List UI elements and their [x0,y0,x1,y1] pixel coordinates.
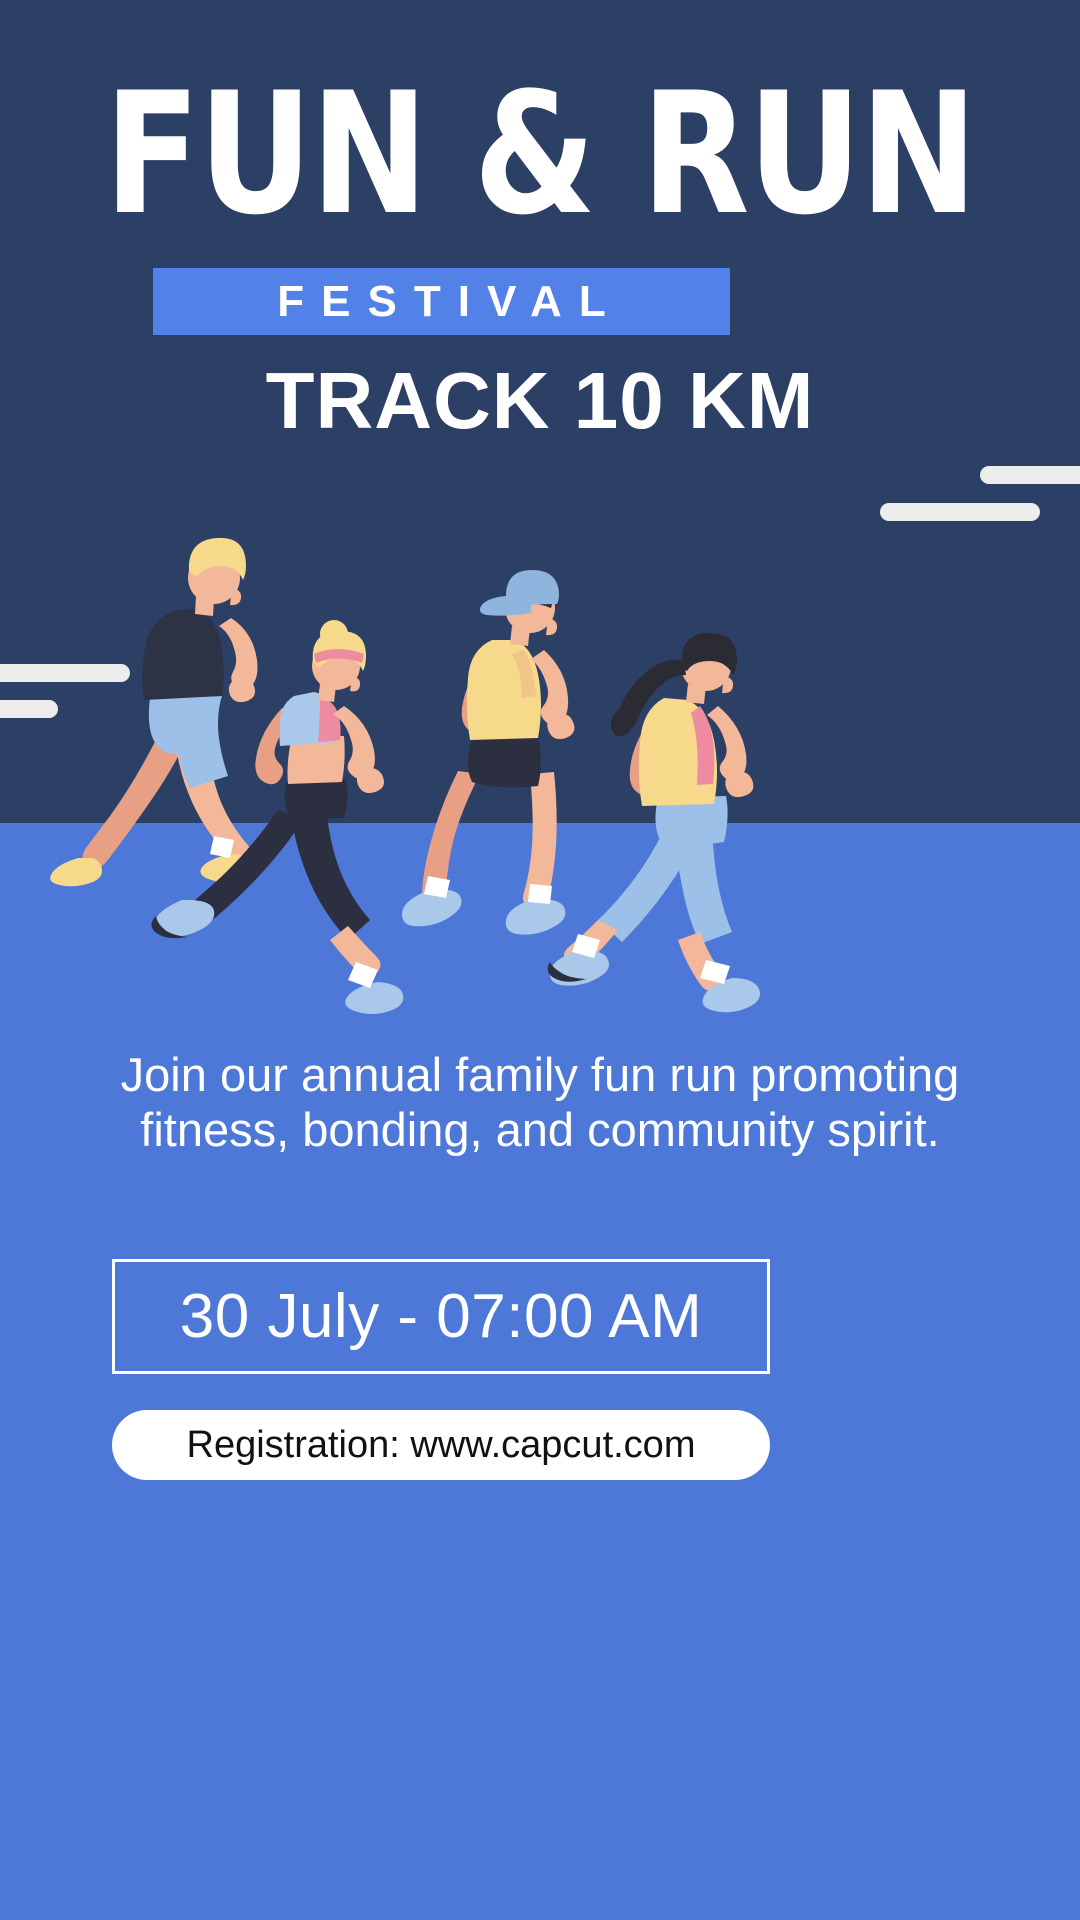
runner-1 [50,538,257,886]
registration-label: Registration: www.capcut.com [187,1426,696,1464]
event-description: Join our annual family fun run promoting… [70,1047,1010,1157]
runner-3 [402,570,574,935]
poster-canvas: FUN & RUN FESTIVAL TRACK 10 KM .skin{fil… [0,0,1080,1920]
runners-illustration: .skin{fill:#f3b79a} .skinD{fill:#e8a085}… [0,500,1080,1060]
festival-banner: FESTIVAL [153,268,730,335]
date-time-label: 30 July - 07:00 AM [180,1286,703,1348]
festival-banner-label: FESTIVAL [260,280,622,324]
distance-headline: TRACK 10 KM [0,358,1080,444]
date-time-box: 30 July - 07:00 AM [112,1259,770,1374]
runners-svg: .skin{fill:#f3b79a} .skinD{fill:#e8a085}… [0,500,1080,1060]
runner-4 [548,633,760,1012]
poster-title: FUN & RUN [38,78,1042,230]
speed-line-right-upper [980,466,1080,484]
registration-button[interactable]: Registration: www.capcut.com [112,1410,770,1480]
